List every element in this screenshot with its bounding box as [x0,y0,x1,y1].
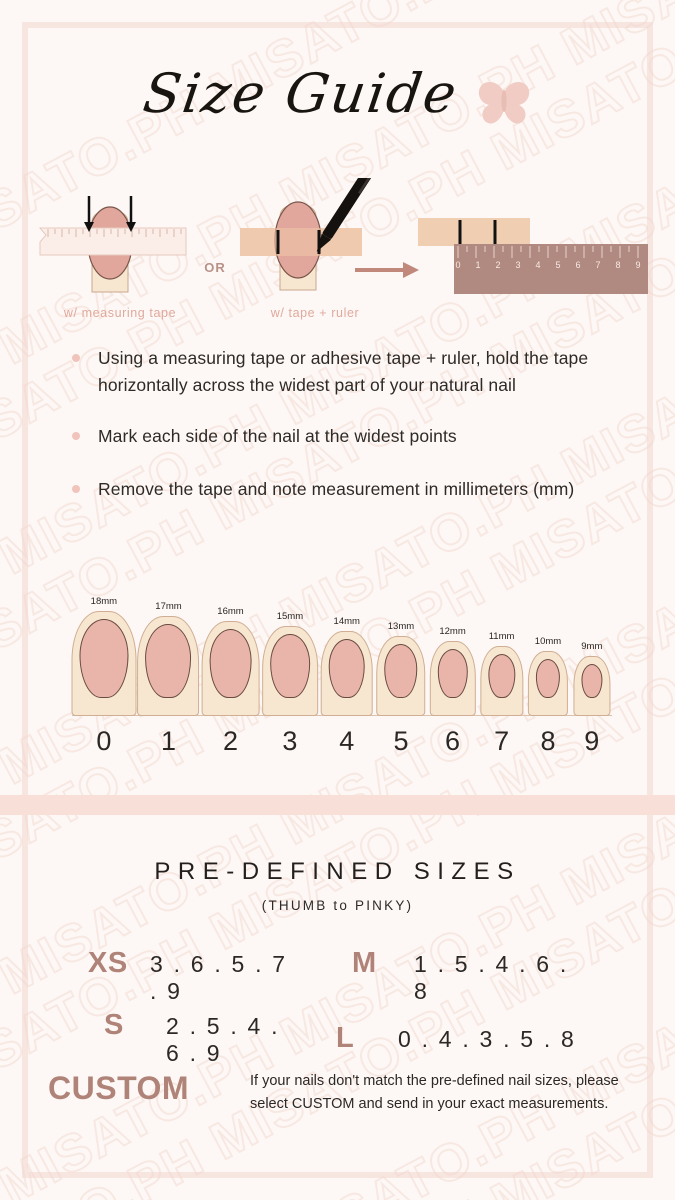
instruction-text: Mark each side of the nail at the widest… [98,423,457,450]
ruler-tick-label: 6 [575,260,580,270]
instructions-list: Using a measuring tape or adhesive tape … [72,345,612,526]
or-separator-label: OR [195,260,235,275]
ruler-tick-label: 8 [615,260,620,270]
nail-mm-label: 15mm [277,611,303,622]
size-values: 0 . 4 . 3 . 5 . 8 [398,1026,576,1053]
size-entry-xs: XS 3 . 6 . 5 . 7 . 9 [0,947,292,1005]
nail-plate-shape [488,654,515,698]
tape-and-pen-illustration [240,178,415,303]
size-label: S [104,1009,166,1042]
size-entry-l: L 0 . 4 . 3 . 5 . 8 [292,1022,592,1055]
size-number-label: 9 [584,726,599,757]
ruler-tick-label: 4 [535,260,540,270]
size-row: XS 3 . 6 . 5 . 7 . 9 M 1 . 5 . 4 . 6 . 8 [0,945,675,1007]
nail-plate-shape [270,634,310,698]
nail-mm-label: 10mm [535,636,561,647]
nail-mm-label: 14mm [334,616,360,627]
size-number-label: 8 [540,726,555,757]
nail-mm-label: 9mm [581,641,602,652]
instruction-text: Remove the tape and note measurement in … [98,476,574,503]
size-entry-m: M 1 . 5 . 4 . 6 . 8 [292,947,592,1005]
caption-measuring-tape: w/ measuring tape [30,306,210,320]
size-number-label: 6 [445,726,460,757]
nail-mm-label: 16mm [217,606,243,617]
nail-mm-label: 12mm [439,626,465,637]
measuring-tape-illustration [30,180,240,305]
nail-mm-label: 17mm [155,601,181,612]
size-entry-s: S 2 . 5 . 4 . 6 . 9 [0,1009,292,1067]
nail-plate-shape [79,619,128,698]
instruction-item: Mark each side of the nail at the widest… [72,423,612,450]
ruler-tick-label: 7 [595,260,600,270]
page-title-text: Size Guide [139,62,461,125]
size-label: L [336,1022,398,1055]
page-title: Size Guide [0,62,675,136]
nail-plate-shape [384,644,418,698]
size-label: XS [88,947,150,980]
bullet-dot-icon [72,485,80,493]
size-number-label: 1 [161,726,176,757]
butterfly-icon [476,79,532,130]
ruler-tick-label: 5 [555,260,560,270]
nail-plate-shape [328,639,365,698]
predefined-title: PRE-DEFINED SIZES [0,858,675,886]
custom-description: If your nails don't match the pre-define… [250,1070,620,1117]
size-values: 1 . 5 . 4 . 6 . 8 [414,951,592,1005]
nail-plate-shape [146,624,192,698]
nail-size-chart: 18mm17mm16mm15mm14mm13mm12mm11mm10mm9mm [72,608,612,716]
nail-mm-label: 13mm [388,621,414,632]
size-number-label: 7 [494,726,509,757]
caption-tape-ruler: w/ tape + ruler [225,306,405,320]
size-values: 2 . 5 . 4 . 6 . 9 [166,1013,292,1067]
ruler-tick-label: 3 [515,260,520,270]
custom-size-block: CUSTOM If your nails don't match the pre… [0,1070,675,1117]
custom-label: CUSTOM [0,1070,250,1117]
nail-mm-label: 18mm [91,596,117,607]
bullet-dot-icon [72,354,80,362]
ruler-tick-label: 0 [455,260,460,270]
ruler-tick-label: 9 [635,260,640,270]
nail-mm-label: 11mm [489,631,515,642]
predefined-sizes-header: PRE-DEFINED SIZES (THUMB to PINKY) [0,858,675,913]
ruler-illustration: 0123456789 [418,190,673,315]
size-number-row: 0123456789 [72,726,612,766]
size-number-label: 3 [282,726,297,757]
nail-plate-shape [437,649,467,698]
predefined-subtitle: (THUMB to PINKY) [0,898,675,913]
size-row: S 2 . 5 . 4 . 6 . 9 L 0 . 4 . 3 . 5 . 8 [0,1007,675,1069]
ruler-tick-label: 1 [475,260,480,270]
size-number-label: 2 [223,726,238,757]
instruction-item: Using a measuring tape or adhesive tape … [72,345,612,400]
size-number-label: 5 [393,726,408,757]
nail-plate-shape [209,629,252,698]
size-values: 3 . 6 . 5 . 7 . 9 [150,951,292,1005]
ruler-tick-label: 2 [495,260,500,270]
method-illustrations: w/ measuring tape OR w/ tape + ruler [0,178,675,328]
predefined-sizes-grid: XS 3 . 6 . 5 . 7 . 9 M 1 . 5 . 4 . 6 . 8… [0,945,675,1069]
nail-plate-shape [536,659,560,698]
size-number-label: 0 [96,726,111,757]
nail-plate-shape [581,664,602,698]
instruction-item: Remove the tape and note measurement in … [72,476,612,503]
bullet-dot-icon [72,432,80,440]
instruction-text: Using a measuring tape or adhesive tape … [98,345,612,400]
section-divider [0,795,675,815]
size-label: M [352,947,414,980]
size-number-label: 4 [339,726,354,757]
arrow-right-icon [355,258,425,282]
